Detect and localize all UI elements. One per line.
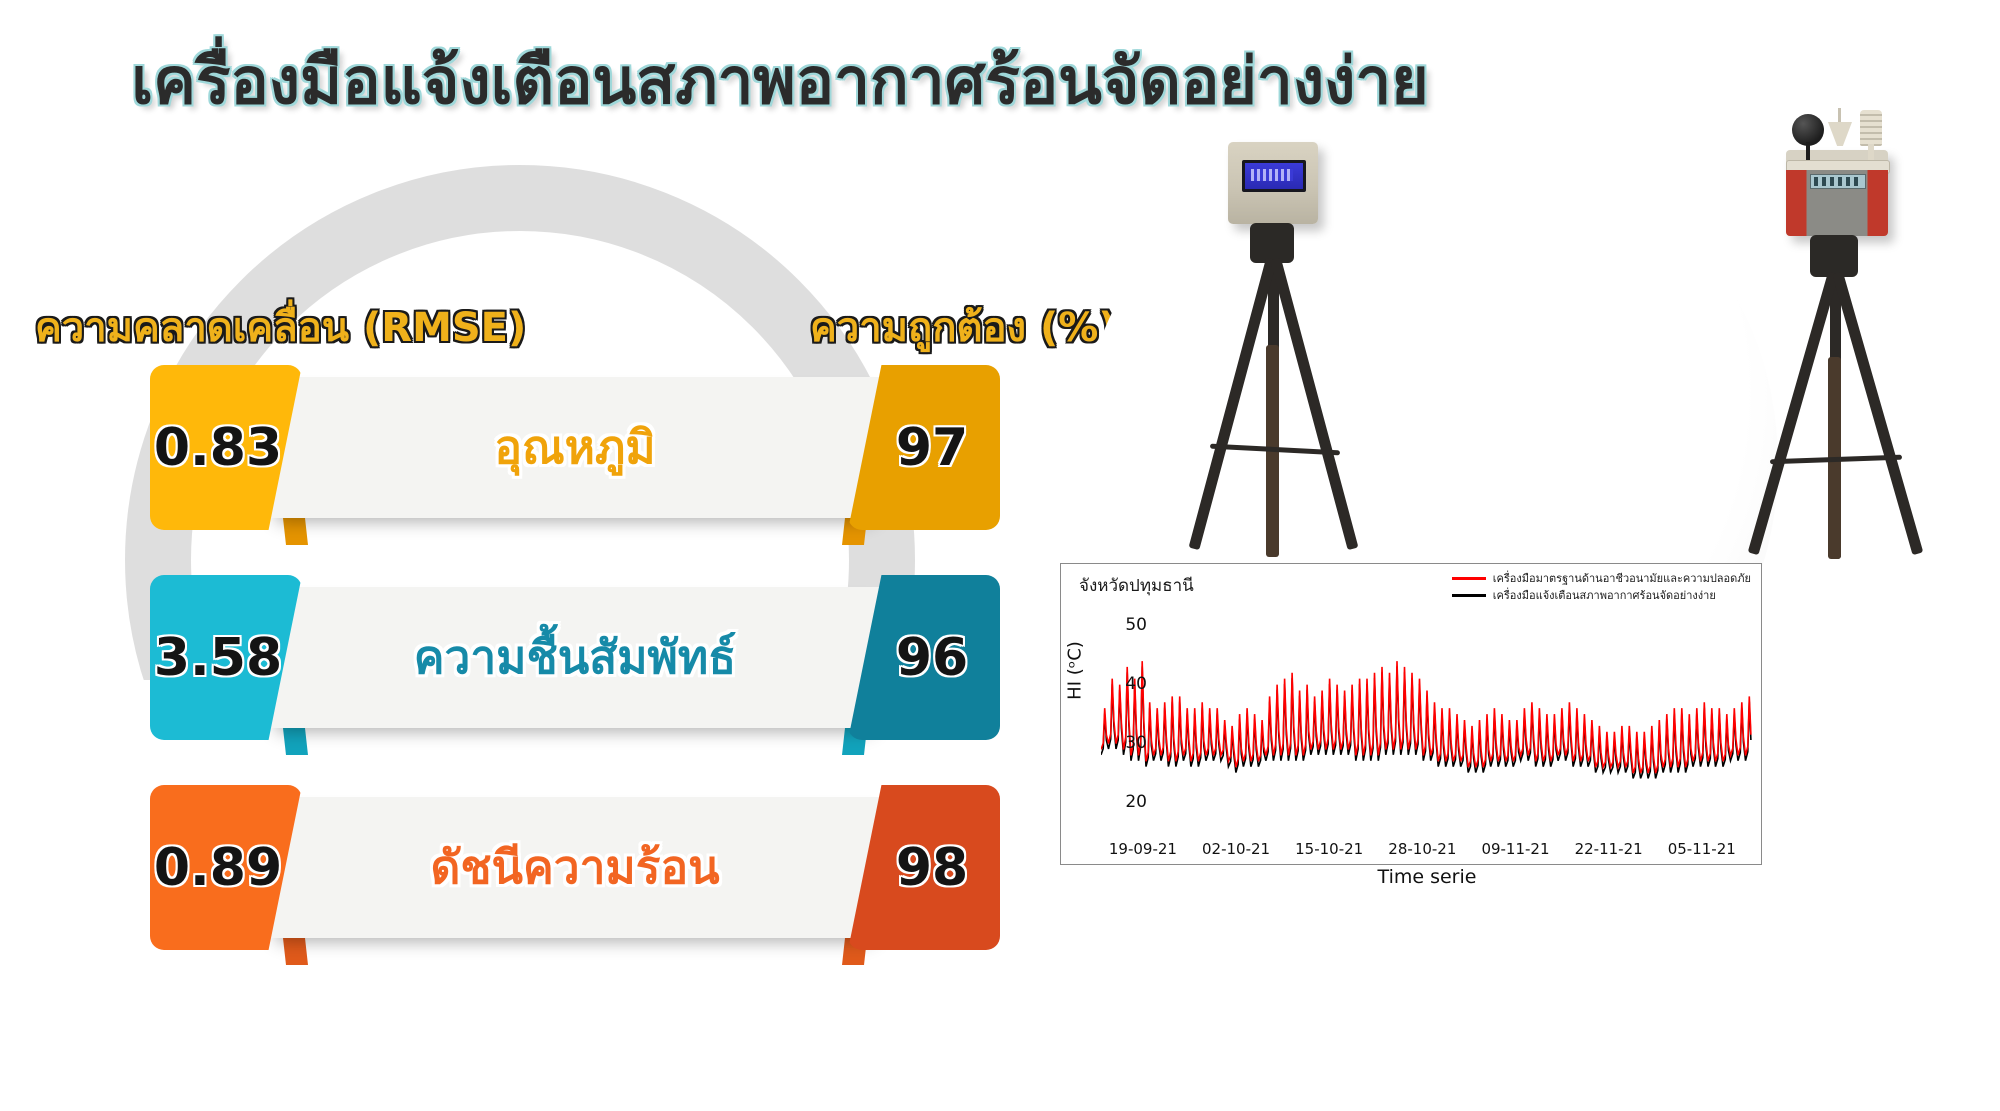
- wet-bulb-sensor-icon: [1828, 122, 1852, 146]
- tripod-right-icon: [1340, 95, 1700, 565]
- lcd-display-icon: [1242, 160, 1306, 192]
- chart-x-tick: 15-10-21: [1295, 840, 1363, 858]
- chart-series-svg: [1101, 608, 1753, 832]
- legend-item-simple: เครื่องมือแจ้งเตือนสภาพอากาศร้อนจัดอย่าง…: [1452, 587, 1751, 604]
- simple-heat-warning-device-icon: [1228, 142, 1318, 224]
- chart-y-tick: 40: [1101, 674, 1147, 694]
- tripod-head: [1810, 235, 1858, 277]
- hi-time-series-chart: จังหวัดปทุมธานี เครื่องมือมาตรฐานด้านอาช…: [1060, 563, 1762, 865]
- tripod-head: [1250, 223, 1294, 263]
- metric-label: อุณหภูมิ: [320, 365, 830, 530]
- rmse-value: 3.58: [154, 628, 282, 688]
- metric-row-temperature[interactable]: 0.83 อุณหภูมิ 97: [150, 365, 1000, 530]
- instrument-photo-panel: จังหวัดปทุมธานี เครื่องมือมาตรฐานด้านอาช…: [1060, 95, 2000, 1111]
- accuracy-value: 97: [896, 418, 968, 478]
- chart-y-axis-label: HI (ᵒC): [1065, 571, 1086, 771]
- radiation-shield-icon: [1860, 110, 1882, 146]
- chart-title: จังหวัดปทุมธานี: [1079, 572, 1194, 599]
- chart-legend: เครื่องมือมาตรฐานด้านอาชีวอนามัยและความป…: [1452, 570, 1751, 604]
- chart-x-tick: 05-11-21: [1668, 840, 1736, 858]
- chart-x-tick: 02-10-21: [1202, 840, 1270, 858]
- rmse-column-header: ความคลาดเคลื่อน (RMSE): [35, 295, 526, 359]
- metric-label: ดัชนีความร้อน: [320, 785, 830, 950]
- chart-x-tick: 19-09-21: [1109, 840, 1177, 858]
- metrics-panel: ความคลาดเคลื่อน (RMSE) ความถูกต้อง (%) 0…: [0, 120, 1080, 1110]
- chart-x-axis-label: Time serie: [1101, 866, 1753, 888]
- chart-x-tick: 28-10-21: [1388, 840, 1456, 858]
- wbgt-display-icon: [1810, 174, 1866, 189]
- tripod-leg: [1832, 271, 1923, 555]
- legend-label: เครื่องมือมาตรฐานด้านอาชีวอนามัยและความป…: [1493, 570, 1751, 587]
- metric-label: ความชื้นสัมพัทธ์: [320, 575, 830, 740]
- wet-bulb-stem: [1838, 108, 1841, 124]
- wbgt-standard-meter-icon: [1786, 150, 1888, 236]
- chart-y-tick: 30: [1101, 733, 1147, 753]
- chart-x-tick: 09-11-21: [1481, 840, 1549, 858]
- accuracy-value: 96: [896, 628, 968, 688]
- legend-item-standard: เครื่องมือมาตรฐานด้านอาชีวอนามัยและความป…: [1452, 570, 1751, 587]
- rmse-value: 0.83: [154, 418, 282, 478]
- metric-row-heat-index[interactable]: 0.89 ดัชนีความร้อน 98: [150, 785, 1000, 950]
- chart-y-tick: 20: [1101, 792, 1147, 812]
- chart-y-tick: 50: [1101, 615, 1147, 635]
- tripod-leg: [1189, 258, 1277, 551]
- accuracy-value: 98: [896, 838, 968, 898]
- rmse-value: 0.89: [154, 838, 282, 898]
- legend-swatch-black: [1452, 594, 1486, 597]
- legend-label: เครื่องมือแจ้งเตือนสภาพอากาศร้อนจัดอย่าง…: [1493, 587, 1716, 604]
- chart-plot-area: [1101, 608, 1753, 832]
- legend-swatch-red: [1452, 577, 1486, 580]
- metric-row-humidity[interactable]: 3.58 ความชื้นสัมพัทธ์ 96: [150, 575, 1000, 740]
- chart-x-tick: 22-11-21: [1575, 840, 1643, 858]
